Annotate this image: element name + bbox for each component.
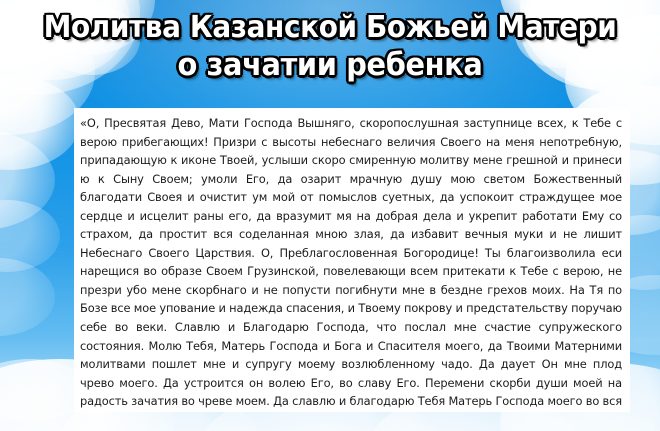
prayer-text-panel: «О, Пресвятая Дево, Мати Господа Вышняго… [74,108,630,412]
title-line-2: о зачатии ребенка [23,47,637,83]
prayer-body-text: «О, Пресвятая Дево, Мати Господа Вышняго… [80,114,622,412]
title-line-1: Молитва Казанской Божьей Матери [23,10,637,46]
prayer-poster: Молитва Казанской Божьей Матери о зачати… [0,0,660,431]
page-title: Молитва Казанской Божьей Матери о зачати… [0,10,660,83]
